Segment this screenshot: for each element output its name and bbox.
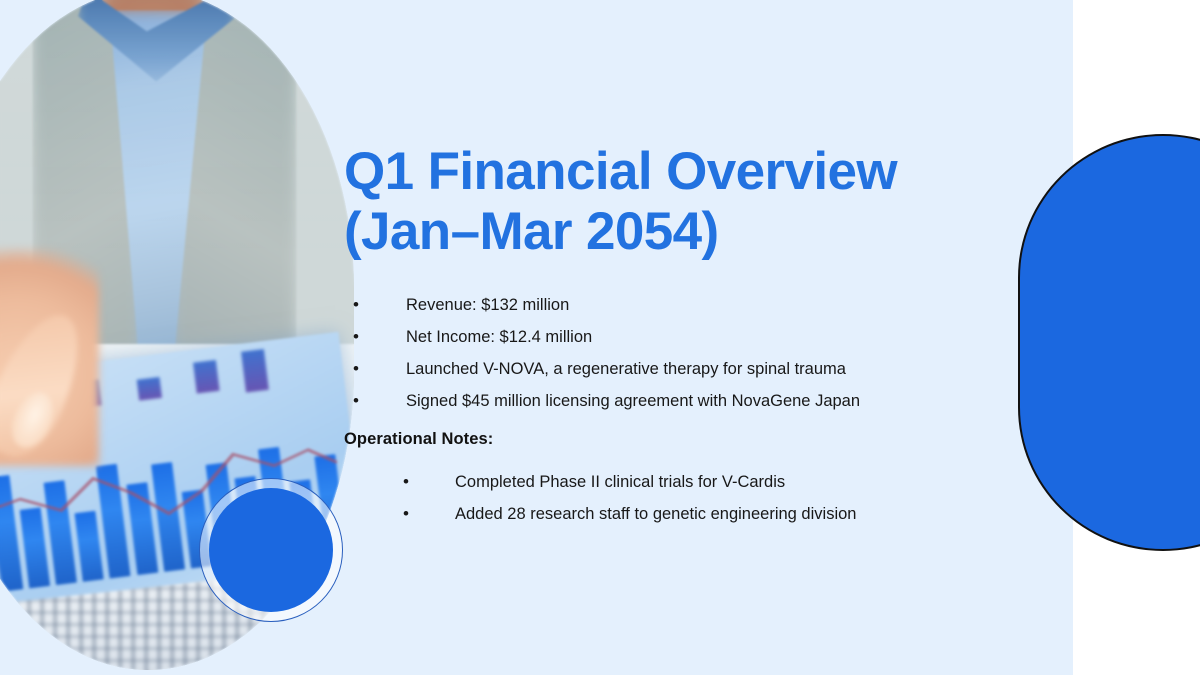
operational-notes-list: Completed Phase II clinical trials for V… xyxy=(344,466,1004,530)
page-title-line-2: (Jan–Mar 2054) xyxy=(344,202,1004,262)
slide-canvas: Q1 Financial Overview (Jan–Mar 2054) Rev… xyxy=(0,0,1200,675)
list-item: Completed Phase II clinical trials for V… xyxy=(344,466,1004,498)
operational-notes-heading: Operational Notes: xyxy=(344,430,1004,449)
page-title: Q1 Financial Overview (Jan–Mar 2054) xyxy=(344,142,1004,263)
blue-rounded-pill-shape xyxy=(1018,134,1200,551)
blue-circle-accent xyxy=(209,488,333,612)
list-item: Added 28 research staff to genetic engin… xyxy=(344,498,1004,530)
list-item: Signed $45 million licensing agreement w… xyxy=(344,385,1004,417)
highlights-list: Revenue: $132 million Net Income: $12.4 … xyxy=(344,289,1004,418)
list-item: Launched V-NOVA, a regenerative therapy … xyxy=(344,353,1004,385)
list-item: Net Income: $12.4 million xyxy=(344,321,1004,353)
list-item: Revenue: $132 million xyxy=(344,289,1004,321)
slide-content: Q1 Financial Overview (Jan–Mar 2054) Rev… xyxy=(344,142,1004,530)
page-title-line-1: Q1 Financial Overview xyxy=(344,142,1004,202)
